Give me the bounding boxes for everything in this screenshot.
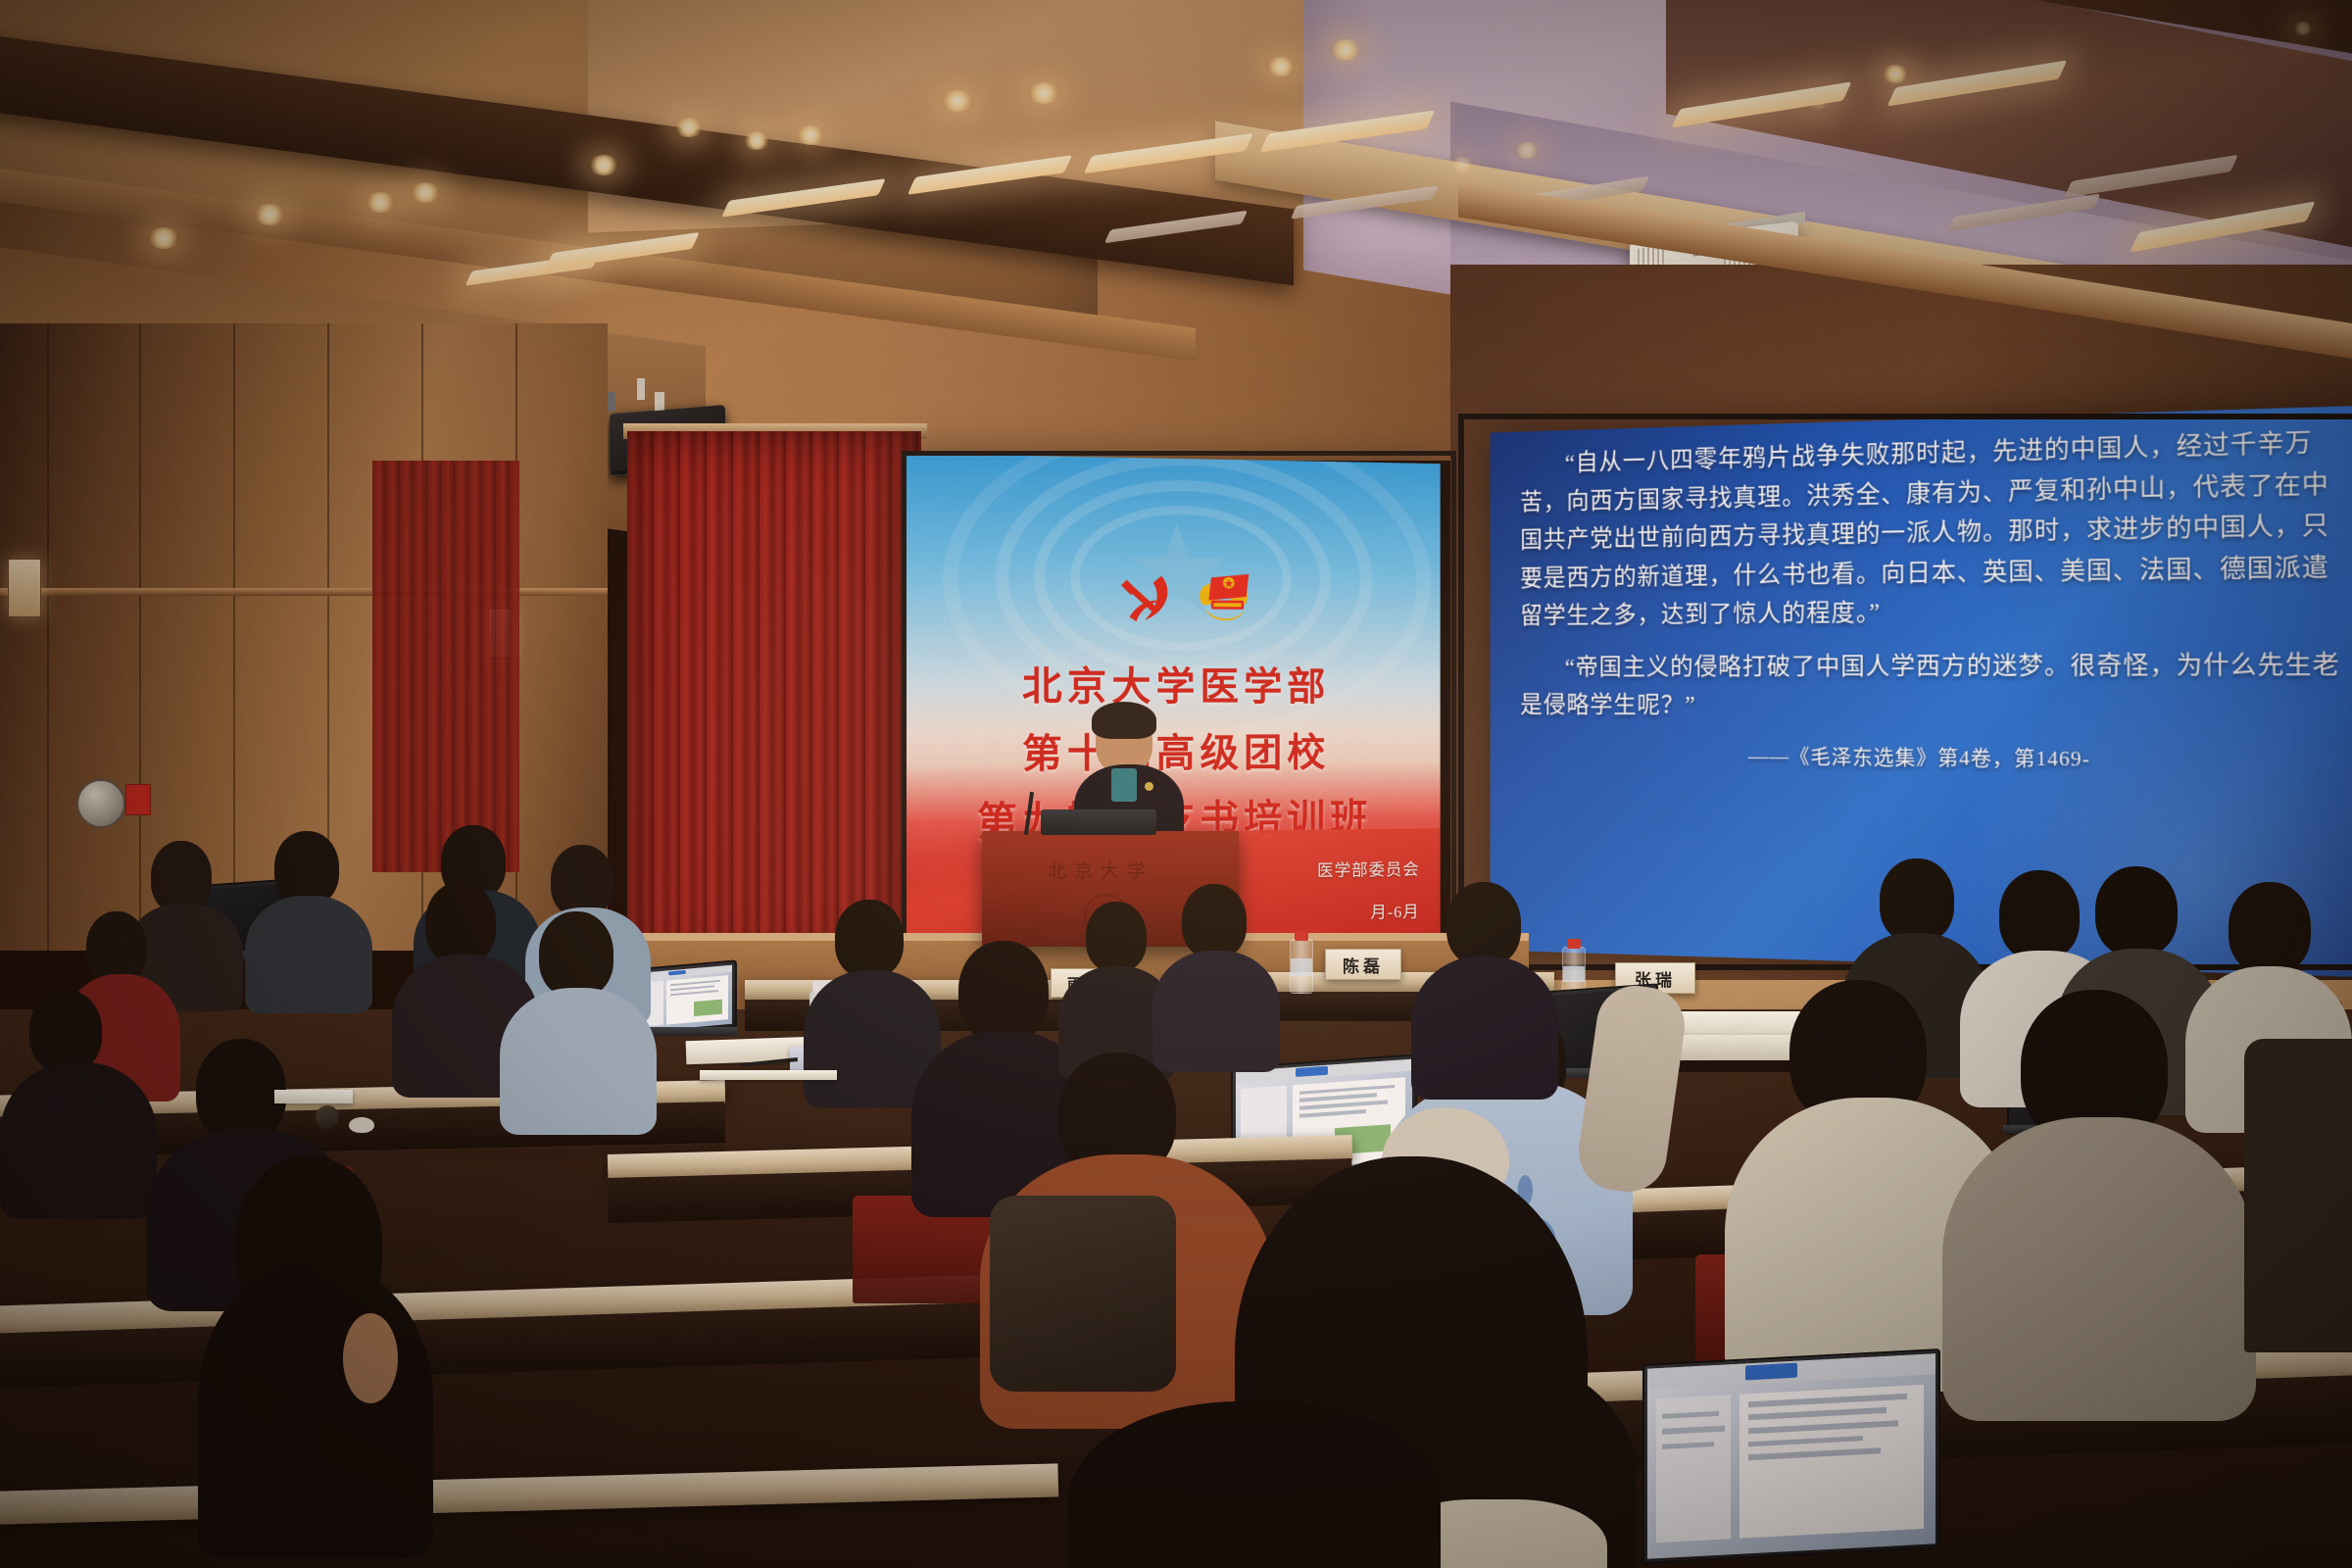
attendee-foreground [1068,1401,1441,1568]
ceiling-downlight [410,182,441,203]
ceiling-downlight [1266,57,1296,76]
ceiling-downlight [1882,65,1909,83]
travel-mug [316,1105,339,1129]
paper-sheet [700,1070,837,1080]
ceiling-downlight [147,227,180,249]
computer-mouse[interactable] [349,1117,374,1133]
fire-alarm-pull-station[interactable] [125,784,151,815]
attendee-hair [1068,1401,1441,1568]
ceiling-downlight [674,118,704,137]
attendee [2244,1039,2352,1352]
ceiling-downlight [941,90,974,112]
presenter-scarf [1111,768,1137,802]
attendee [245,831,372,998]
presenter-hair [1092,702,1156,739]
attendee-hair [198,1264,433,1558]
ceiling-downlight [253,204,286,225]
podium-monitor [1041,809,1156,835]
name-placard: 陈磊 [1325,949,1401,980]
wall-sconce [8,559,41,617]
attendee [500,911,657,1117]
water-bottle [1290,939,1313,994]
projector-mount-left [637,378,645,400]
attendee [1411,882,1558,1078]
ceiling-downlight [2293,22,2313,35]
stage-curtain [627,431,921,965]
lecture-hall-photo: BOSE EPSON [0,0,2352,1568]
attendee [0,990,157,1205]
ceiling-downlight [1329,39,1362,61]
fire-alarm-bell [76,779,125,828]
attendee-foreground [147,1147,461,1568]
paper-stack [274,1090,353,1103]
curtain-left-secondary [372,461,519,872]
ceiling-downlight [743,131,770,150]
ceiling-downlight [1027,82,1060,104]
backpack [990,1196,1176,1392]
attendee-face [343,1313,398,1403]
podium-engraving: 北京大学 [1027,857,1174,878]
ceiling-downlight [588,155,619,175]
attendee [1942,990,2256,1382]
attendee [1152,884,1280,1051]
presenter-badge [1145,782,1153,791]
ceiling-downlight [796,125,825,145]
ceiling-downlight [1450,157,1474,172]
ceiling-downlight [1514,142,1540,159]
ceiling-downlight [365,192,396,213]
laptop-foreground[interactable] [1642,1356,1936,1568]
